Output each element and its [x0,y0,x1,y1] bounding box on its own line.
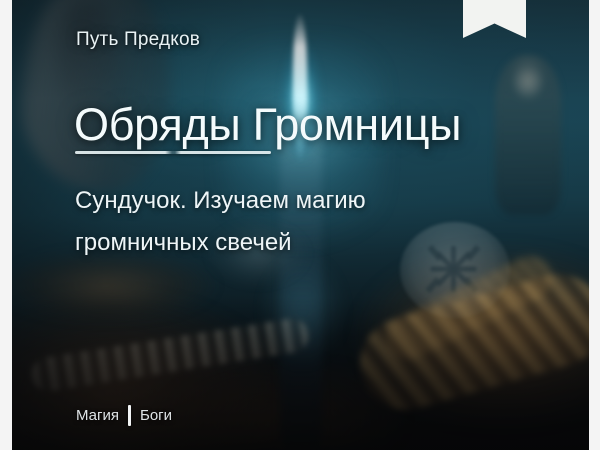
article-cover-banner[interactable]: Путь Предков Обряды Громницы Сундучок. И… [12,0,589,450]
page-title: Обряды Громницы [74,99,461,151]
page-frame: Путь Предков Обряды Громницы Сундучок. И… [0,0,600,450]
tag-separator [128,405,131,426]
title-divider [75,151,271,154]
cover-text-content: Путь Предков Обряды Громницы Сундучок. И… [12,0,589,450]
tag-list[interactable]: Магия Боги [76,405,172,426]
category-kicker: Путь Предков [76,29,200,51]
tag-magic[interactable]: Магия [76,407,119,424]
tag-gods[interactable]: Боги [140,407,172,424]
page-subtitle: Сундучок. Изучаем магию громничных свече… [75,180,465,264]
